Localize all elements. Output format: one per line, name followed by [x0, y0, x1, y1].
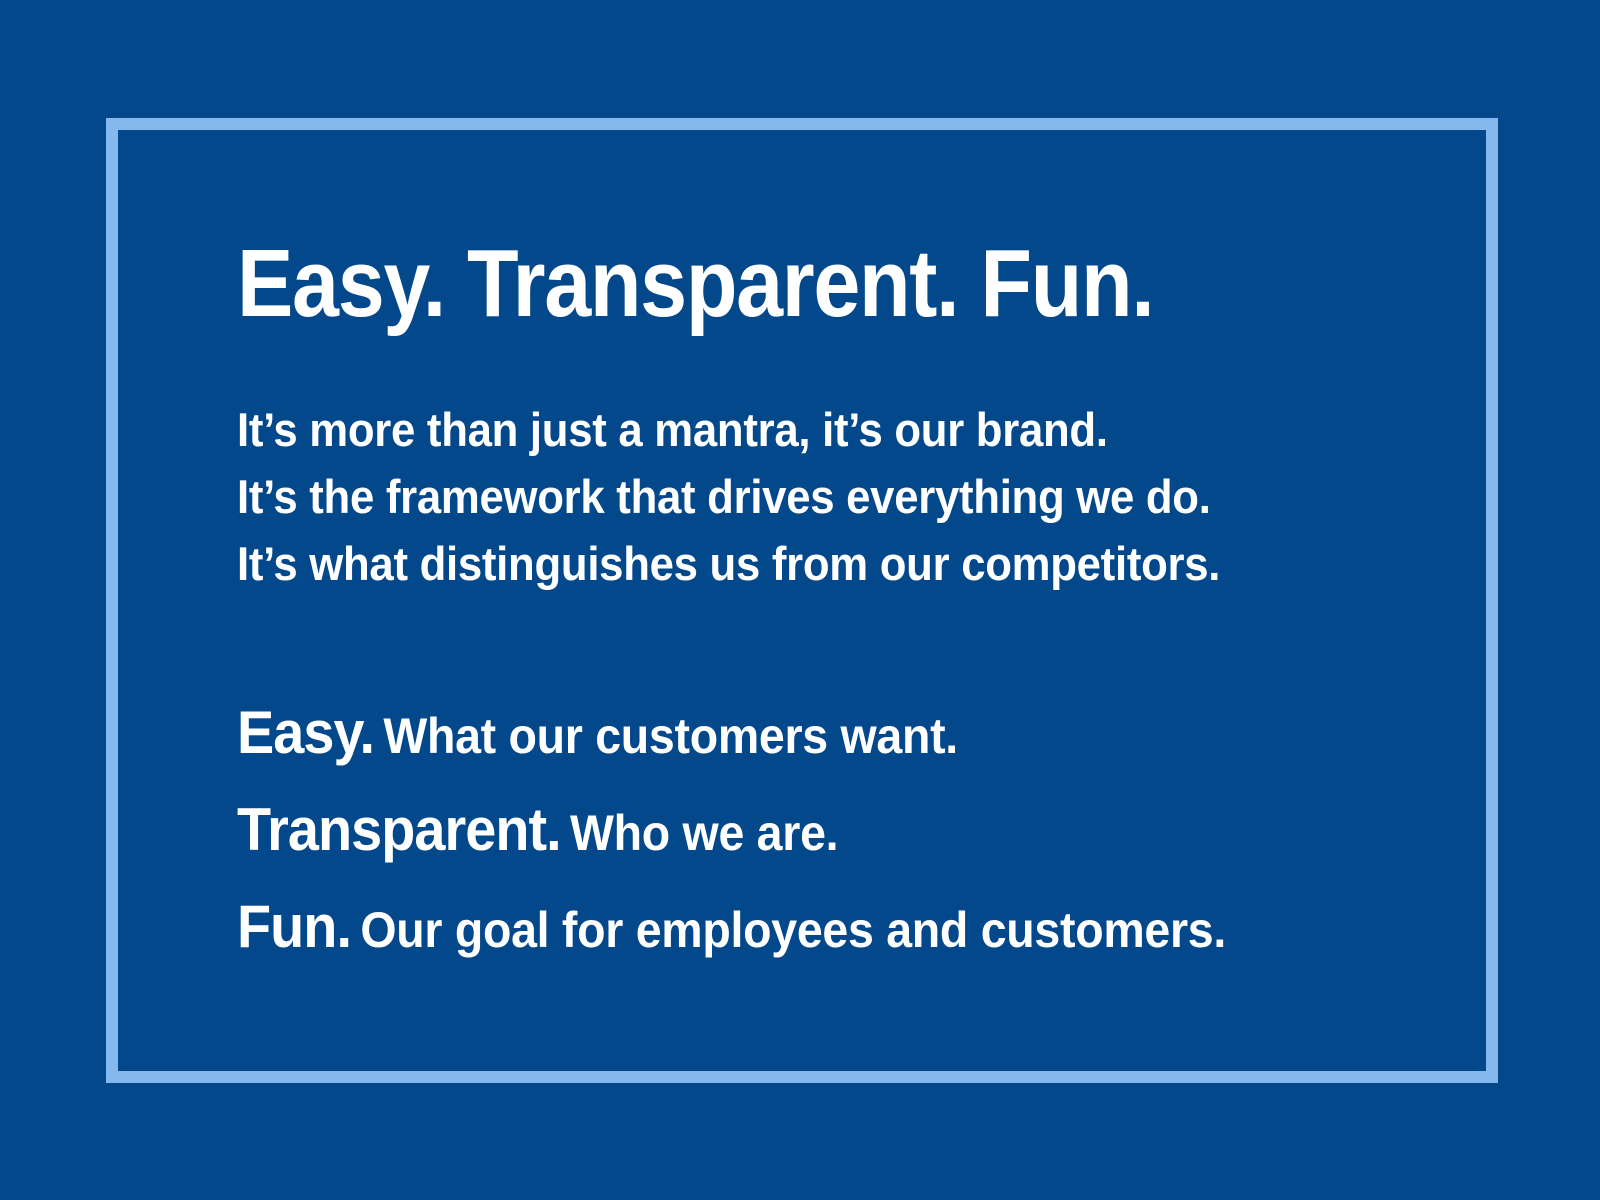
- definition-description: What our customers want.: [383, 708, 958, 764]
- definition-item: Transparent.Who we are.: [237, 789, 1353, 886]
- intro-line: It’s the framework that drives everythin…: [237, 463, 1353, 530]
- definition-description: Who we are.: [570, 805, 838, 861]
- definition-description: Our goal for employees and customers.: [360, 902, 1226, 958]
- intro-line: It’s what distinguishes us from our comp…: [237, 530, 1353, 597]
- page-title: Easy. Transparent. Fun.: [237, 236, 1293, 332]
- definition-item: Easy.What our customers want.: [237, 692, 1353, 789]
- definition-item: Fun.Our goal for employees and customers…: [237, 886, 1353, 983]
- slide-canvas: Easy. Transparent. Fun. It’s more than j…: [0, 0, 1600, 1200]
- intro-line: It’s more than just a mantra, it’s our b…: [237, 396, 1353, 463]
- definition-term: Fun.: [237, 893, 351, 960]
- slide-content: Easy. Transparent. Fun. It’s more than j…: [237, 236, 1437, 983]
- definition-term: Transparent.: [237, 796, 561, 863]
- definition-term: Easy.: [237, 699, 374, 766]
- definitions-list: Easy.What our customers want. Transparen…: [237, 692, 1437, 983]
- intro-paragraph: It’s more than just a mantra, it’s our b…: [237, 396, 1437, 597]
